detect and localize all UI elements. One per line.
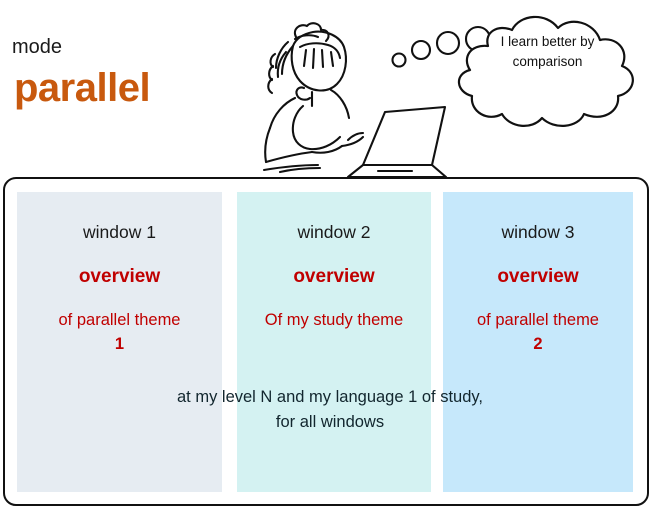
- window-1-overview-label: overview: [17, 266, 222, 288]
- footnote: at my level N and my language 1 of study…: [60, 385, 600, 435]
- mode-value: parallel: [14, 68, 150, 108]
- window-3-subtitle-emphasis: 2: [533, 335, 542, 353]
- window-1-subtitle-emphasis: 1: [115, 335, 124, 353]
- header: mode parallel: [0, 0, 656, 177]
- window-3-subtitle-text: of parallel theme: [477, 311, 599, 329]
- window-1-subtitle-text: of parallel theme: [59, 311, 181, 329]
- window-3-title: window 3: [443, 222, 633, 243]
- footnote-line-2: for all windows: [276, 413, 384, 431]
- mode-label: mode: [12, 36, 62, 59]
- window-2-subtitle: Of my study theme: [237, 308, 431, 332]
- thought-bubble-text: I learn better by comparison: [470, 32, 625, 72]
- window-1-subtitle: of parallel theme 1: [10, 308, 229, 356]
- window-3-overview-label: overview: [443, 266, 633, 288]
- window-3-subtitle: of parallel theme 2: [440, 308, 636, 356]
- footnote-line-1: at my level N and my language 1 of study…: [177, 388, 483, 406]
- window-2-overview-label: overview: [237, 266, 431, 288]
- window-2-subtitle-text: Of my study theme: [265, 311, 403, 329]
- window-2-title: window 2: [237, 222, 431, 243]
- window-1-title: window 1: [17, 222, 222, 243]
